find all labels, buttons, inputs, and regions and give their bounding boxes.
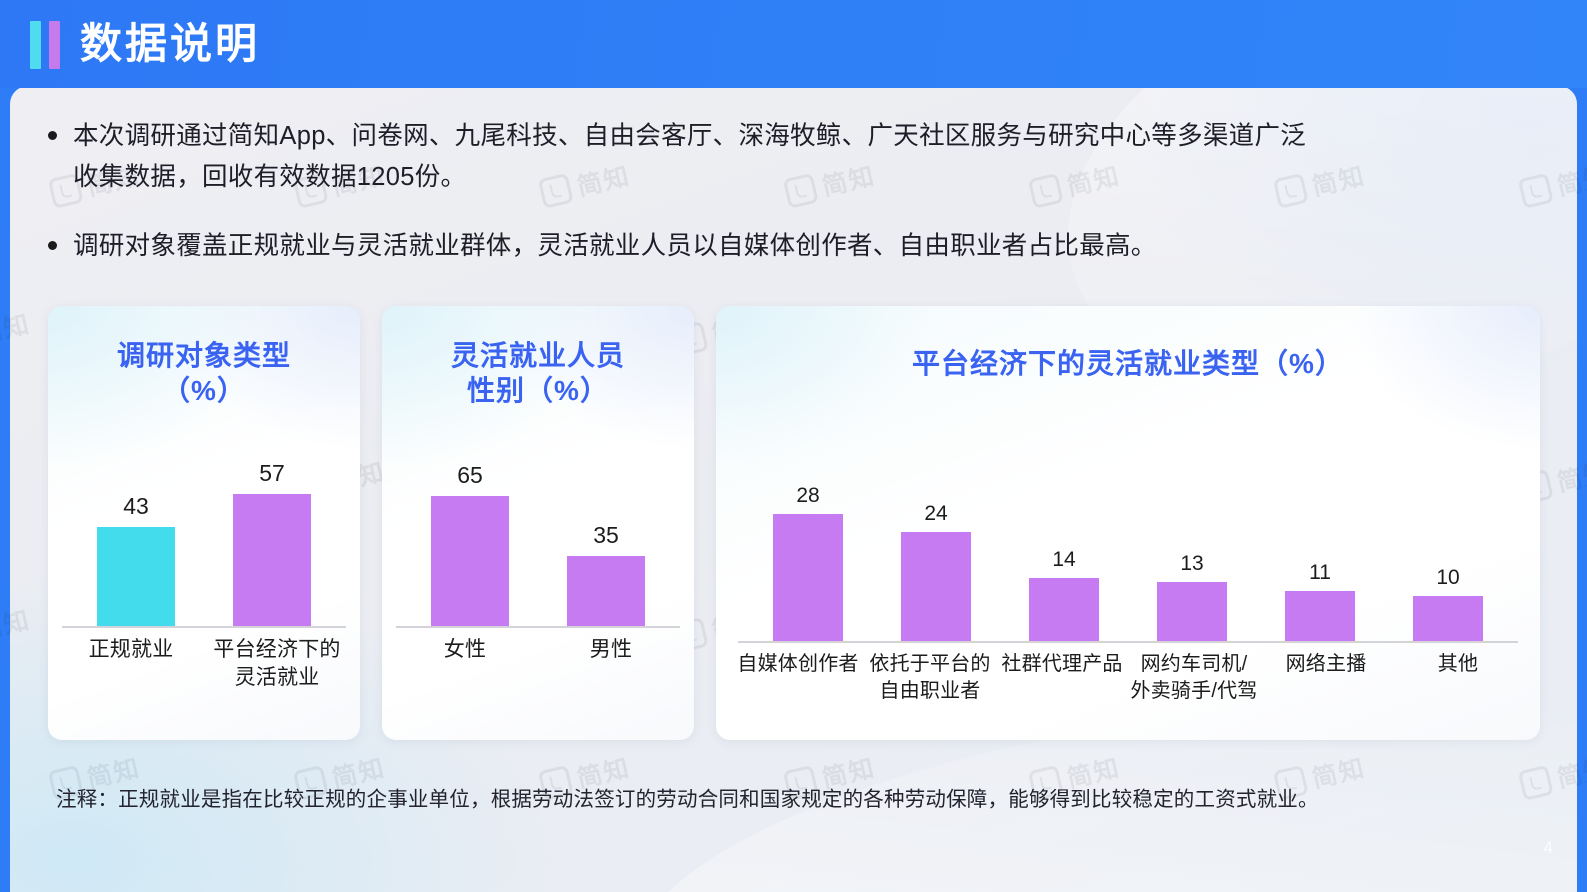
chart-card-platform-employment-types: 平台经济下的灵活就业类型（%） 282414131110 自媒体创作者依托于平台… bbox=[716, 306, 1540, 740]
x-axis-label: 网络主播 bbox=[1260, 651, 1392, 678]
chart-title-line1: 平台经济下的灵活就业类型（%） bbox=[716, 346, 1540, 381]
footnote: 注释：正规就业是指在比较正规的企事业单位，根据劳动法签订的劳动合同和国家规定的各… bbox=[56, 782, 1319, 812]
chart-axis-line bbox=[738, 641, 1518, 643]
bar bbox=[1285, 591, 1355, 641]
chart-card-gender: 灵活就业人员 性别（%） 6535 女性男性 bbox=[382, 306, 694, 740]
bar-value-label: 57 bbox=[259, 462, 285, 485]
slide-root: 数据说明 简知简知简知简知简知简知简知简知简知简知简知简知简知简知简知简知简知简… bbox=[0, 0, 1587, 892]
chart-plot-area: 6535 bbox=[382, 436, 694, 626]
bar bbox=[773, 514, 843, 641]
bar-column: 14 bbox=[1029, 456, 1099, 641]
chart-card-row: 调研对象类型 （%） 4357 正规就业平台经济下的灵活就业 灵活就业人员 性别… bbox=[48, 306, 1540, 740]
bullet-text: 本次调研通过简知App、问卷网、九尾科技、自由会客厅、深海牧鲸、广天社区服务与研… bbox=[73, 116, 1308, 198]
chart-title-line1: 调研对象类型 bbox=[48, 338, 360, 373]
bullet-dot-icon bbox=[48, 241, 57, 250]
chart-title-line2: （%） bbox=[48, 373, 360, 408]
bar bbox=[1413, 596, 1483, 641]
chart-x-labels: 女性男性 bbox=[382, 636, 694, 664]
bar bbox=[901, 532, 971, 641]
bar-value-label: 10 bbox=[1436, 567, 1459, 588]
chart-plot-area: 4357 bbox=[48, 436, 360, 626]
chart-title: 灵活就业人员 性别（%） bbox=[382, 338, 694, 408]
page-number: 4 bbox=[1544, 838, 1553, 858]
bar-column: 11 bbox=[1285, 456, 1355, 641]
bar bbox=[1029, 578, 1099, 641]
bullet-text: 调研对象覆盖正规就业与灵活就业群体，灵活就业人员以自媒体创作者、自由职业者占比最… bbox=[73, 226, 1157, 267]
x-axis-label: 网约车司机/外卖骑手/代驾 bbox=[1128, 651, 1260, 705]
bar-value-label: 14 bbox=[1052, 549, 1075, 570]
bar bbox=[233, 494, 311, 626]
x-axis-label: 女性 bbox=[400, 636, 530, 664]
bar bbox=[1157, 582, 1227, 641]
chart-plot-area: 282414131110 bbox=[716, 456, 1540, 641]
bar-value-label: 43 bbox=[123, 495, 149, 518]
bar-column: 57 bbox=[233, 436, 311, 626]
bar-value-label: 11 bbox=[1309, 562, 1331, 583]
bar-column: 10 bbox=[1413, 456, 1483, 641]
bar-column: 65 bbox=[431, 436, 509, 626]
slide-header: 数据说明 bbox=[0, 0, 1587, 88]
x-axis-label: 其他 bbox=[1392, 651, 1524, 678]
x-axis-label: 社群代理产品 bbox=[996, 651, 1128, 678]
bar-column: 28 bbox=[773, 456, 843, 641]
chart-title-line1: 灵活就业人员 bbox=[382, 338, 694, 373]
bar bbox=[97, 527, 175, 626]
chart-title: 平台经济下的灵活就业类型（%） bbox=[716, 346, 1540, 381]
x-axis-label: 自媒体创作者 bbox=[732, 651, 864, 678]
x-axis-label: 依托于平台的自由职业者 bbox=[864, 651, 996, 705]
bar bbox=[567, 556, 645, 626]
page-title: 数据说明 bbox=[80, 23, 260, 65]
header-accent-bar-cyan bbox=[30, 21, 41, 69]
bar-value-label: 13 bbox=[1180, 553, 1203, 574]
chart-title: 调研对象类型 （%） bbox=[48, 338, 360, 408]
list-item: 本次调研通过简知App、问卷网、九尾科技、自由会客厅、深海牧鲸、广天社区服务与研… bbox=[48, 116, 1308, 198]
chart-title-line2: 性别（%） bbox=[382, 373, 694, 408]
bar-value-label: 35 bbox=[593, 524, 619, 547]
bar-value-label: 65 bbox=[457, 464, 483, 487]
bar-column: 35 bbox=[567, 436, 645, 626]
x-axis-label: 正规就业 bbox=[66, 636, 196, 664]
chart-x-labels: 正规就业平台经济下的灵活就业 bbox=[48, 636, 360, 693]
bar-column: 43 bbox=[97, 436, 175, 626]
bullet-dot-icon bbox=[48, 131, 57, 140]
chart-card-survey-subject-type: 调研对象类型 （%） 4357 正规就业平台经济下的灵活就业 bbox=[48, 306, 360, 740]
bar bbox=[431, 496, 509, 626]
header-accent-bar-purple bbox=[49, 21, 60, 69]
x-axis-label: 平台经济下的灵活就业 bbox=[212, 636, 342, 693]
x-axis-label: 男性 bbox=[546, 636, 676, 664]
bar-column: 24 bbox=[901, 456, 971, 641]
chart-axis-line bbox=[396, 626, 680, 628]
bar-column: 13 bbox=[1157, 456, 1227, 641]
chart-x-labels: 自媒体创作者依托于平台的自由职业者社群代理产品网约车司机/外卖骑手/代驾网络主播… bbox=[716, 651, 1540, 705]
bullet-list: 本次调研通过简知App、问卷网、九尾科技、自由会客厅、深海牧鲸、广天社区服务与研… bbox=[48, 116, 1308, 294]
bar-value-label: 28 bbox=[796, 485, 819, 506]
chart-axis-line bbox=[62, 626, 346, 628]
list-item: 调研对象覆盖正规就业与灵活就业群体，灵活就业人员以自媒体创作者、自由职业者占比最… bbox=[48, 226, 1308, 267]
bar-value-label: 24 bbox=[924, 503, 947, 524]
